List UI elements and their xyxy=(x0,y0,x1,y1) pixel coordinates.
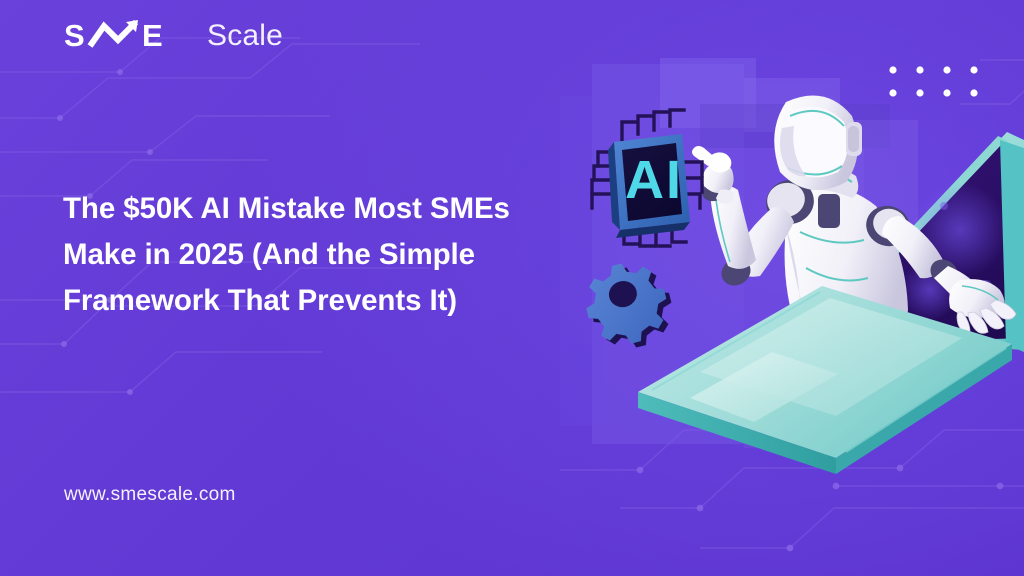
svg-text:E: E xyxy=(142,18,164,53)
sme-arrow-mark: S E xyxy=(64,18,196,54)
banner-canvas: AI S E Scale The $50K AI Mistake Most SM… xyxy=(0,0,1024,576)
headline-line-1: The $50K AI Mistake Most SMEs xyxy=(63,186,583,232)
logo-wordmark: Scale xyxy=(207,21,283,51)
headline-line-3: Framework That Prevents It) xyxy=(63,278,583,324)
brand-logo[interactable]: S E Scale xyxy=(64,18,283,54)
site-url[interactable]: www.smescale.com xyxy=(64,484,236,506)
headline-line-2: Make in 2025 (And the Simple xyxy=(63,232,583,278)
svg-text:S: S xyxy=(64,18,86,53)
page-title: The $50K AI Mistake Most SMEs Make in 20… xyxy=(63,186,583,324)
